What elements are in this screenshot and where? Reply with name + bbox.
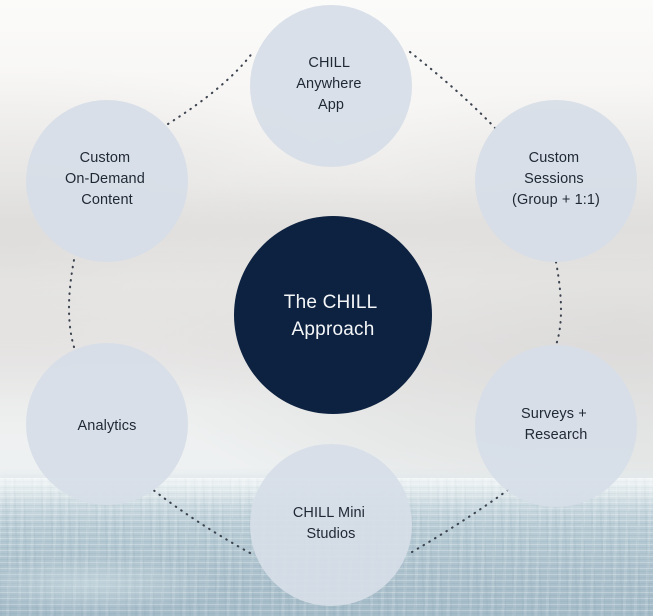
node-chill-mini-studios[interactable] (250, 444, 412, 606)
label-line: App (318, 97, 344, 113)
node-surveys-research[interactable] (475, 345, 637, 507)
label-line: Surveys + (521, 406, 587, 422)
label-line: Sessions (524, 171, 584, 187)
connector-analytics-to-content (69, 260, 74, 347)
label-line: Custom (80, 150, 131, 166)
label-line: Custom (529, 150, 580, 166)
label-line: (Group + 1:1) (512, 192, 600, 208)
connector-surveys-to-studios (412, 490, 508, 552)
connector-app-to-sessions (410, 52, 496, 129)
label-line: Anywhere (296, 76, 361, 92)
hub-label-line: Approach (292, 319, 375, 340)
hub-circle-chill-approach[interactable] (234, 216, 432, 414)
label-line: Content (81, 192, 133, 208)
label-line: CHILL (308, 55, 349, 71)
connector-studios-to-analytics (152, 489, 250, 553)
label-line: Research (525, 427, 588, 443)
label-line: CHILL Mini (293, 505, 365, 521)
label-line: Analytics (78, 418, 137, 434)
hub-label-line: The CHILL (284, 292, 377, 313)
diagram-canvas: CHILL Anywhere App Custom Sessions (Grou… (0, 0, 653, 616)
connector-content-to-app (168, 52, 253, 124)
label-line: Studios (306, 526, 355, 542)
connector-sessions-to-surveys (556, 262, 561, 345)
chill-approach-diagram: CHILL Anywhere App Custom Sessions (Grou… (0, 0, 653, 616)
label-analytics: Analytics (78, 418, 137, 434)
label-line: On-Demand (65, 171, 145, 187)
